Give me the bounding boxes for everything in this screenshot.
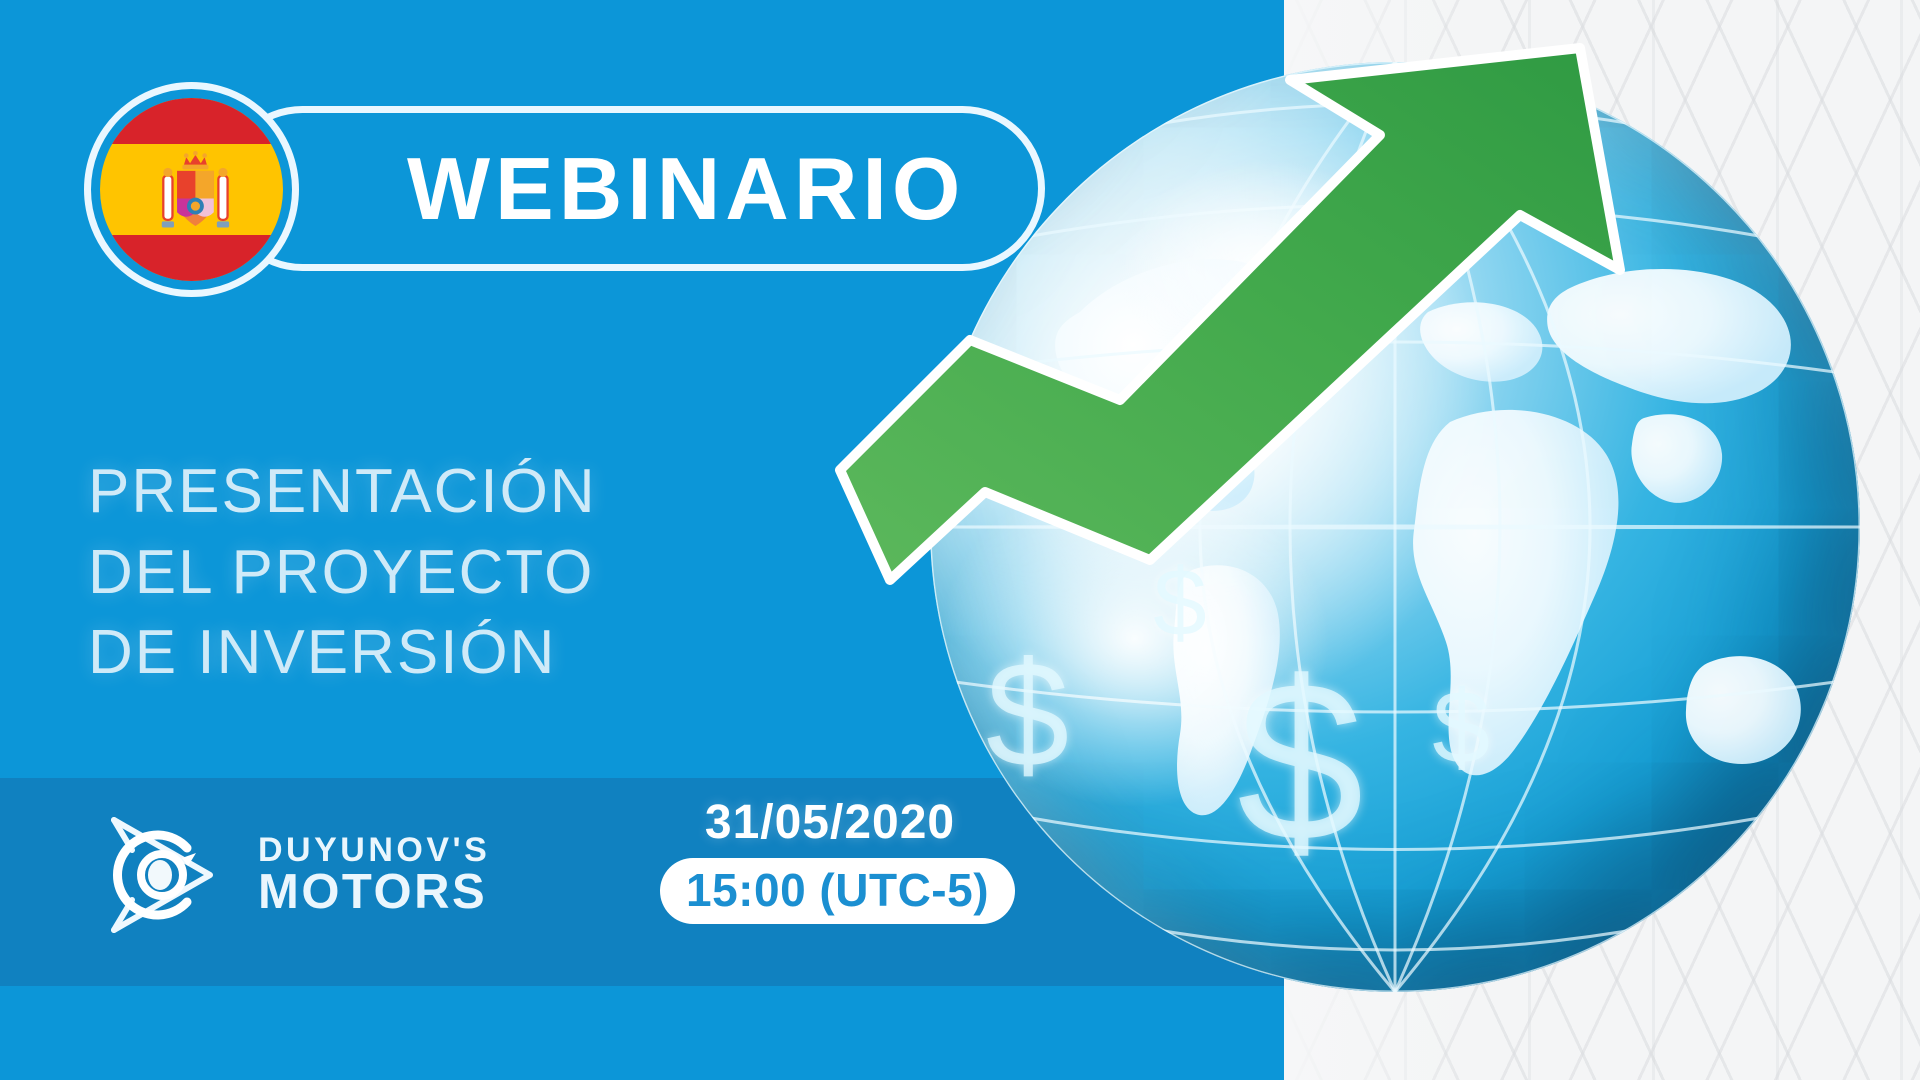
schedule-block: 31/05/2020 15:00 (UTC-5)	[660, 796, 1000, 924]
webinar-pill: WEBINARIO	[220, 106, 1045, 271]
webinar-badge-row: WEBINARIO	[84, 82, 1014, 297]
spain-flag-icon	[84, 82, 299, 297]
headline-line-3: DE INVERSIÓN	[88, 613, 597, 694]
flag-inner	[100, 98, 283, 281]
duyunovs-motors-logo-icon	[92, 806, 232, 944]
brand-name-top: DUYUNOV'S	[258, 834, 490, 868]
spain-coat-of-arms-icon	[157, 151, 234, 235]
webinar-time-pill: 15:00 (UTC-5)	[660, 858, 1015, 924]
brand-lockup: DUYUNOV'S MOTORS	[92, 806, 490, 944]
headline-line-1: PRESENTACIÓN	[88, 452, 597, 533]
headline-line-2: DEL PROYECTO	[88, 533, 597, 614]
webinar-banner: $ $ $ $ WEBINARIO	[0, 0, 1920, 1080]
webinar-title: WEBINARIO	[407, 145, 965, 233]
webinar-time: 15:00 (UTC-5)	[686, 864, 989, 916]
brand-name: DUYUNOV'S MOTORS	[258, 834, 490, 916]
flag-stripe-top	[100, 98, 283, 144]
brand-name-bottom: MOTORS	[258, 868, 490, 917]
page-title: PRESENTACIÓN DEL PROYECTO DE INVERSIÓN	[88, 452, 597, 694]
flag-stripe-bottom	[100, 235, 283, 281]
webinar-date: 31/05/2020	[660, 796, 1000, 850]
